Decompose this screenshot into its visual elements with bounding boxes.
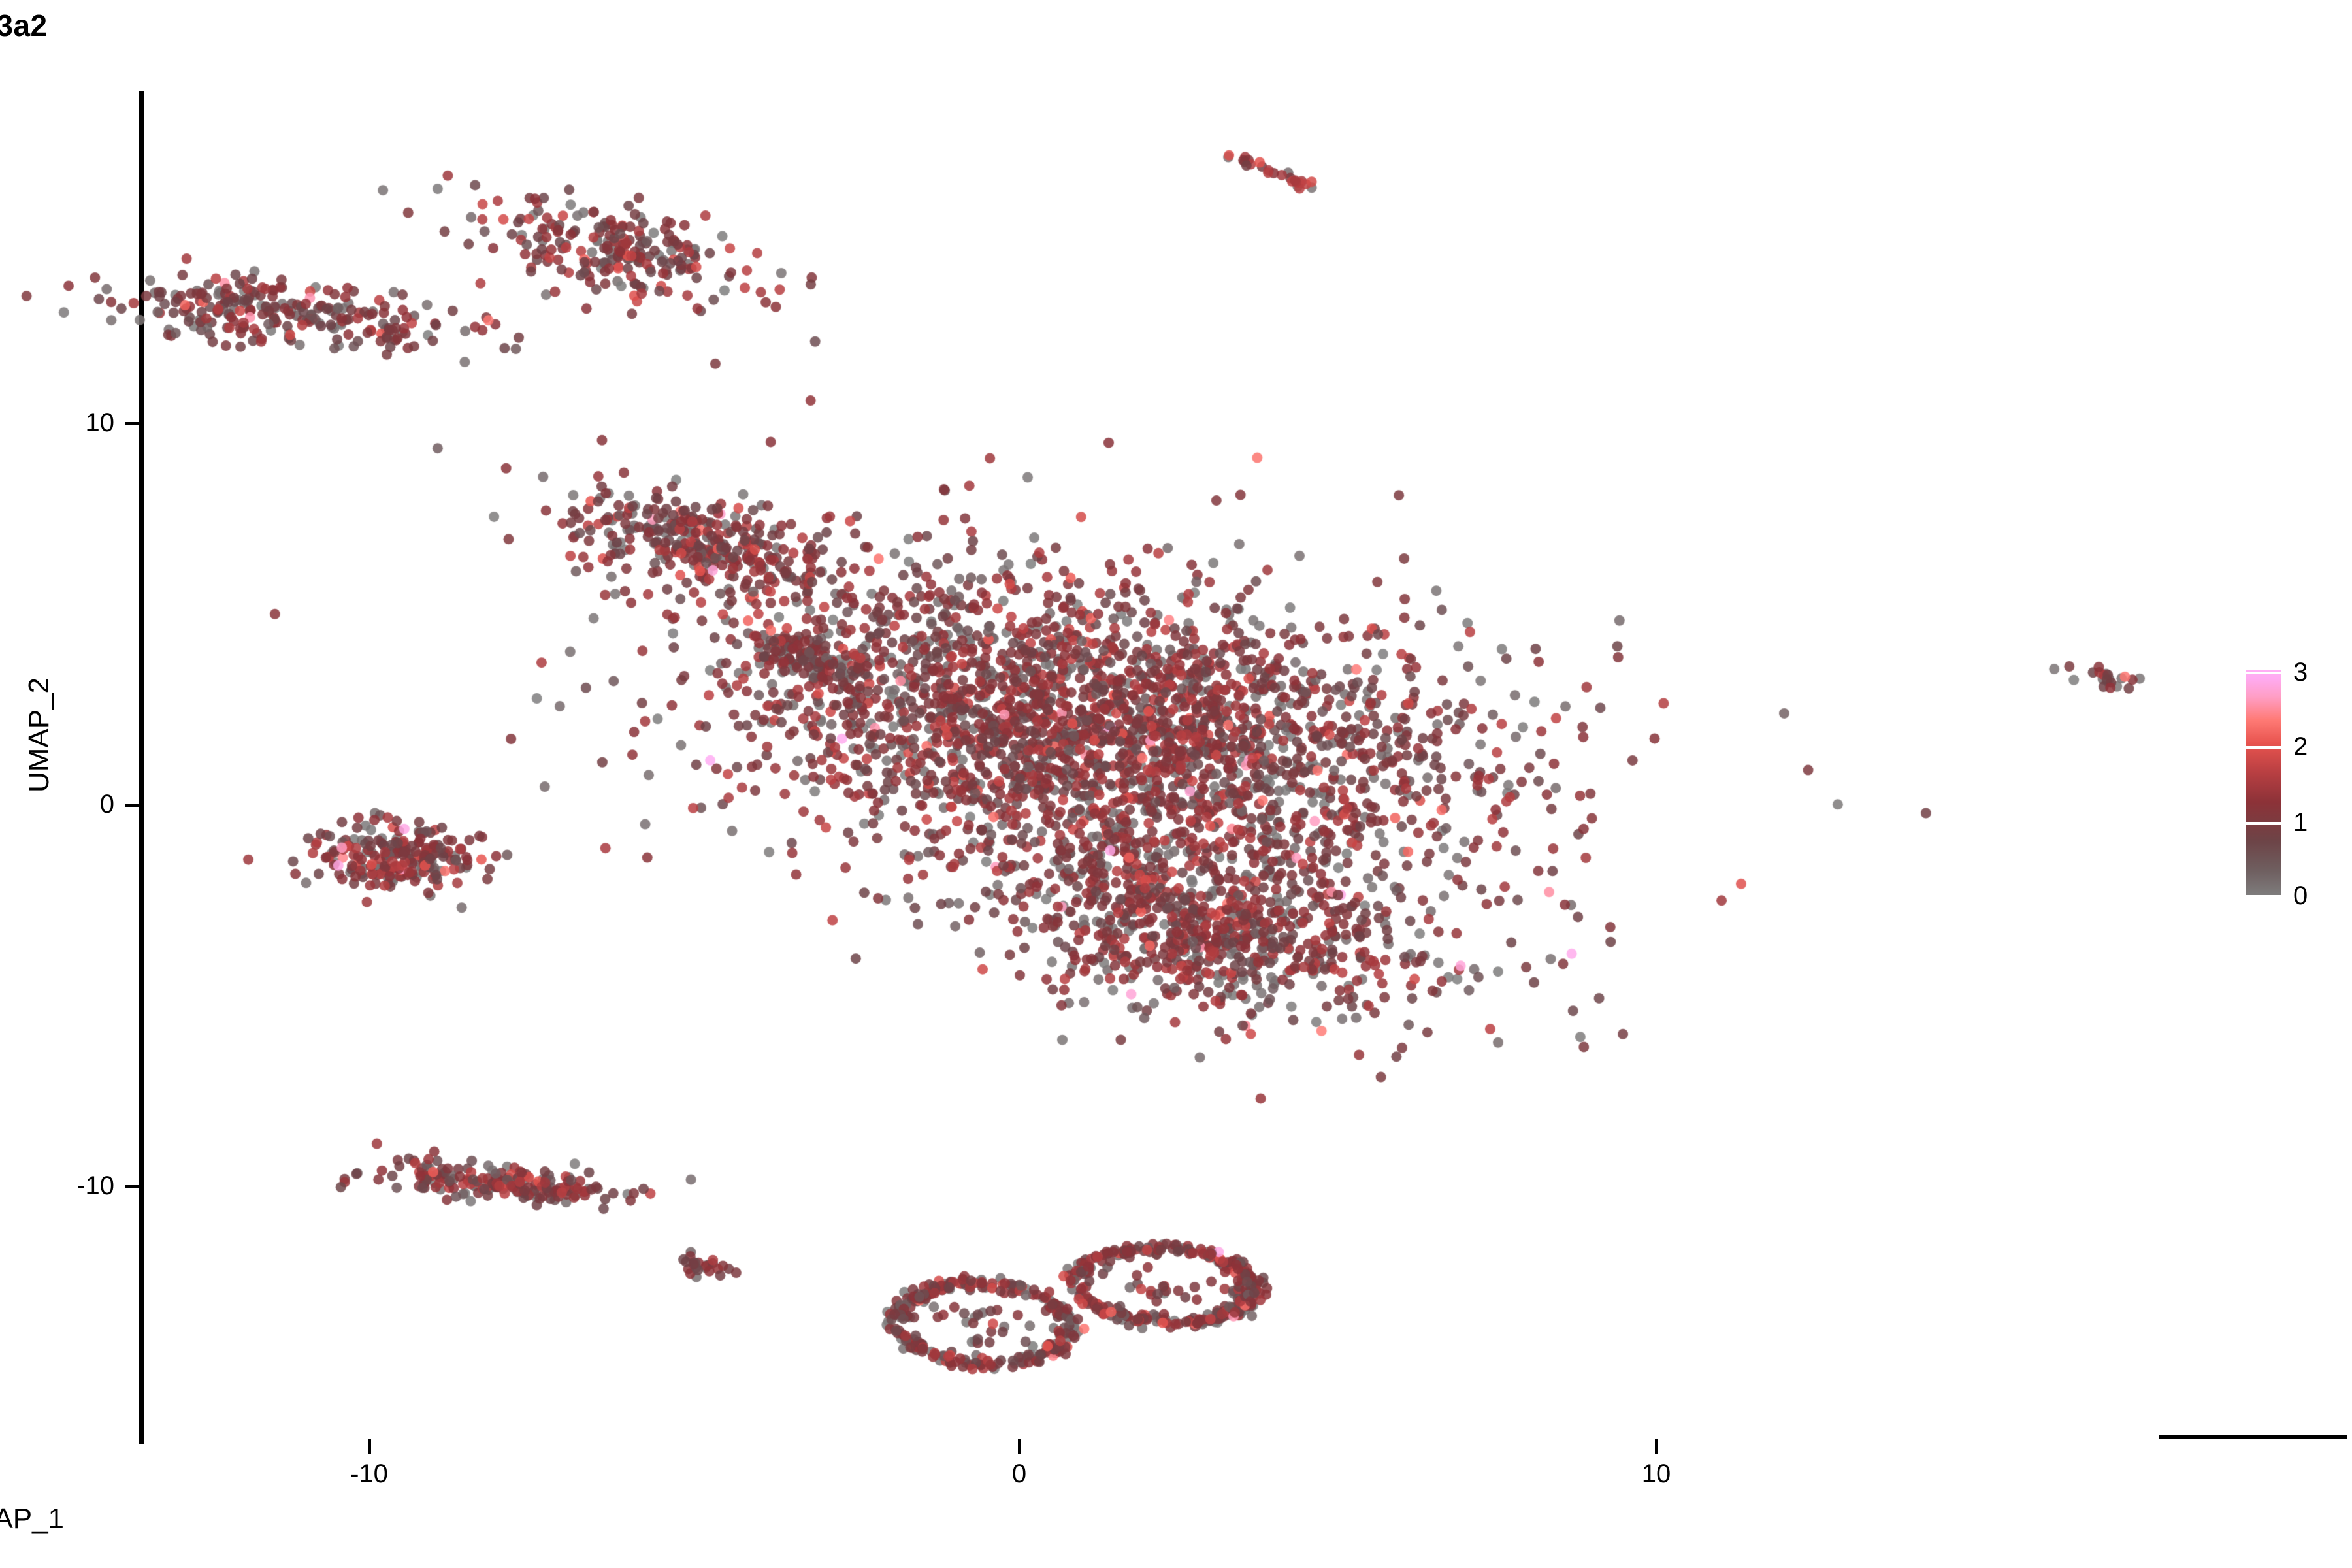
y-tick-mark [125, 1185, 139, 1188]
x-tick-label: -10 [304, 1461, 434, 1487]
y-axis-label-text: UMAP_2 [23, 678, 55, 792]
x-axis-label-text: UMAP_1 [0, 1503, 64, 1535]
x-axis-label: UMAP_1 [0, 1503, 2352, 1535]
colorbar-tick-mark [2246, 895, 2281, 898]
colorbar-tick-mark [2246, 822, 2281, 825]
y-tick-label: 10 [86, 410, 115, 436]
colorbar-tick-mark [2246, 672, 2281, 674]
colorbar-tick-label: 2 [2293, 734, 2308, 760]
colorbar-gradient [2246, 670, 2281, 898]
colorbar-tick-mark [2246, 746, 2281, 749]
y-tick-label: -10 [76, 1173, 114, 1199]
y-tick-label: 0 [100, 791, 114, 817]
x-tick-mark [368, 1439, 371, 1454]
umap-feature-plot: Sf3a2 100-10 -10010 UMAP_1 UMAP_2 3210 [0, 0, 2352, 1568]
colorbar-legend: 3210 [2246, 670, 2351, 898]
y-tick-mark [125, 422, 139, 425]
colorbar-tick-label: 1 [2293, 809, 2308, 836]
x-tick-mark [1655, 1439, 1658, 1454]
scatter-points-layer [0, 0, 2352, 1568]
y-tick-mark [125, 804, 139, 807]
x-tick-label: 10 [1591, 1461, 1722, 1487]
x-tick-label: 0 [954, 1461, 1085, 1487]
colorbar-tick-label: 0 [2293, 883, 2308, 909]
y-axis-label: UMAP_2 [23, 604, 56, 866]
colorbar-tick-label: 3 [2293, 659, 2308, 685]
x-tick-mark [1018, 1439, 1021, 1454]
